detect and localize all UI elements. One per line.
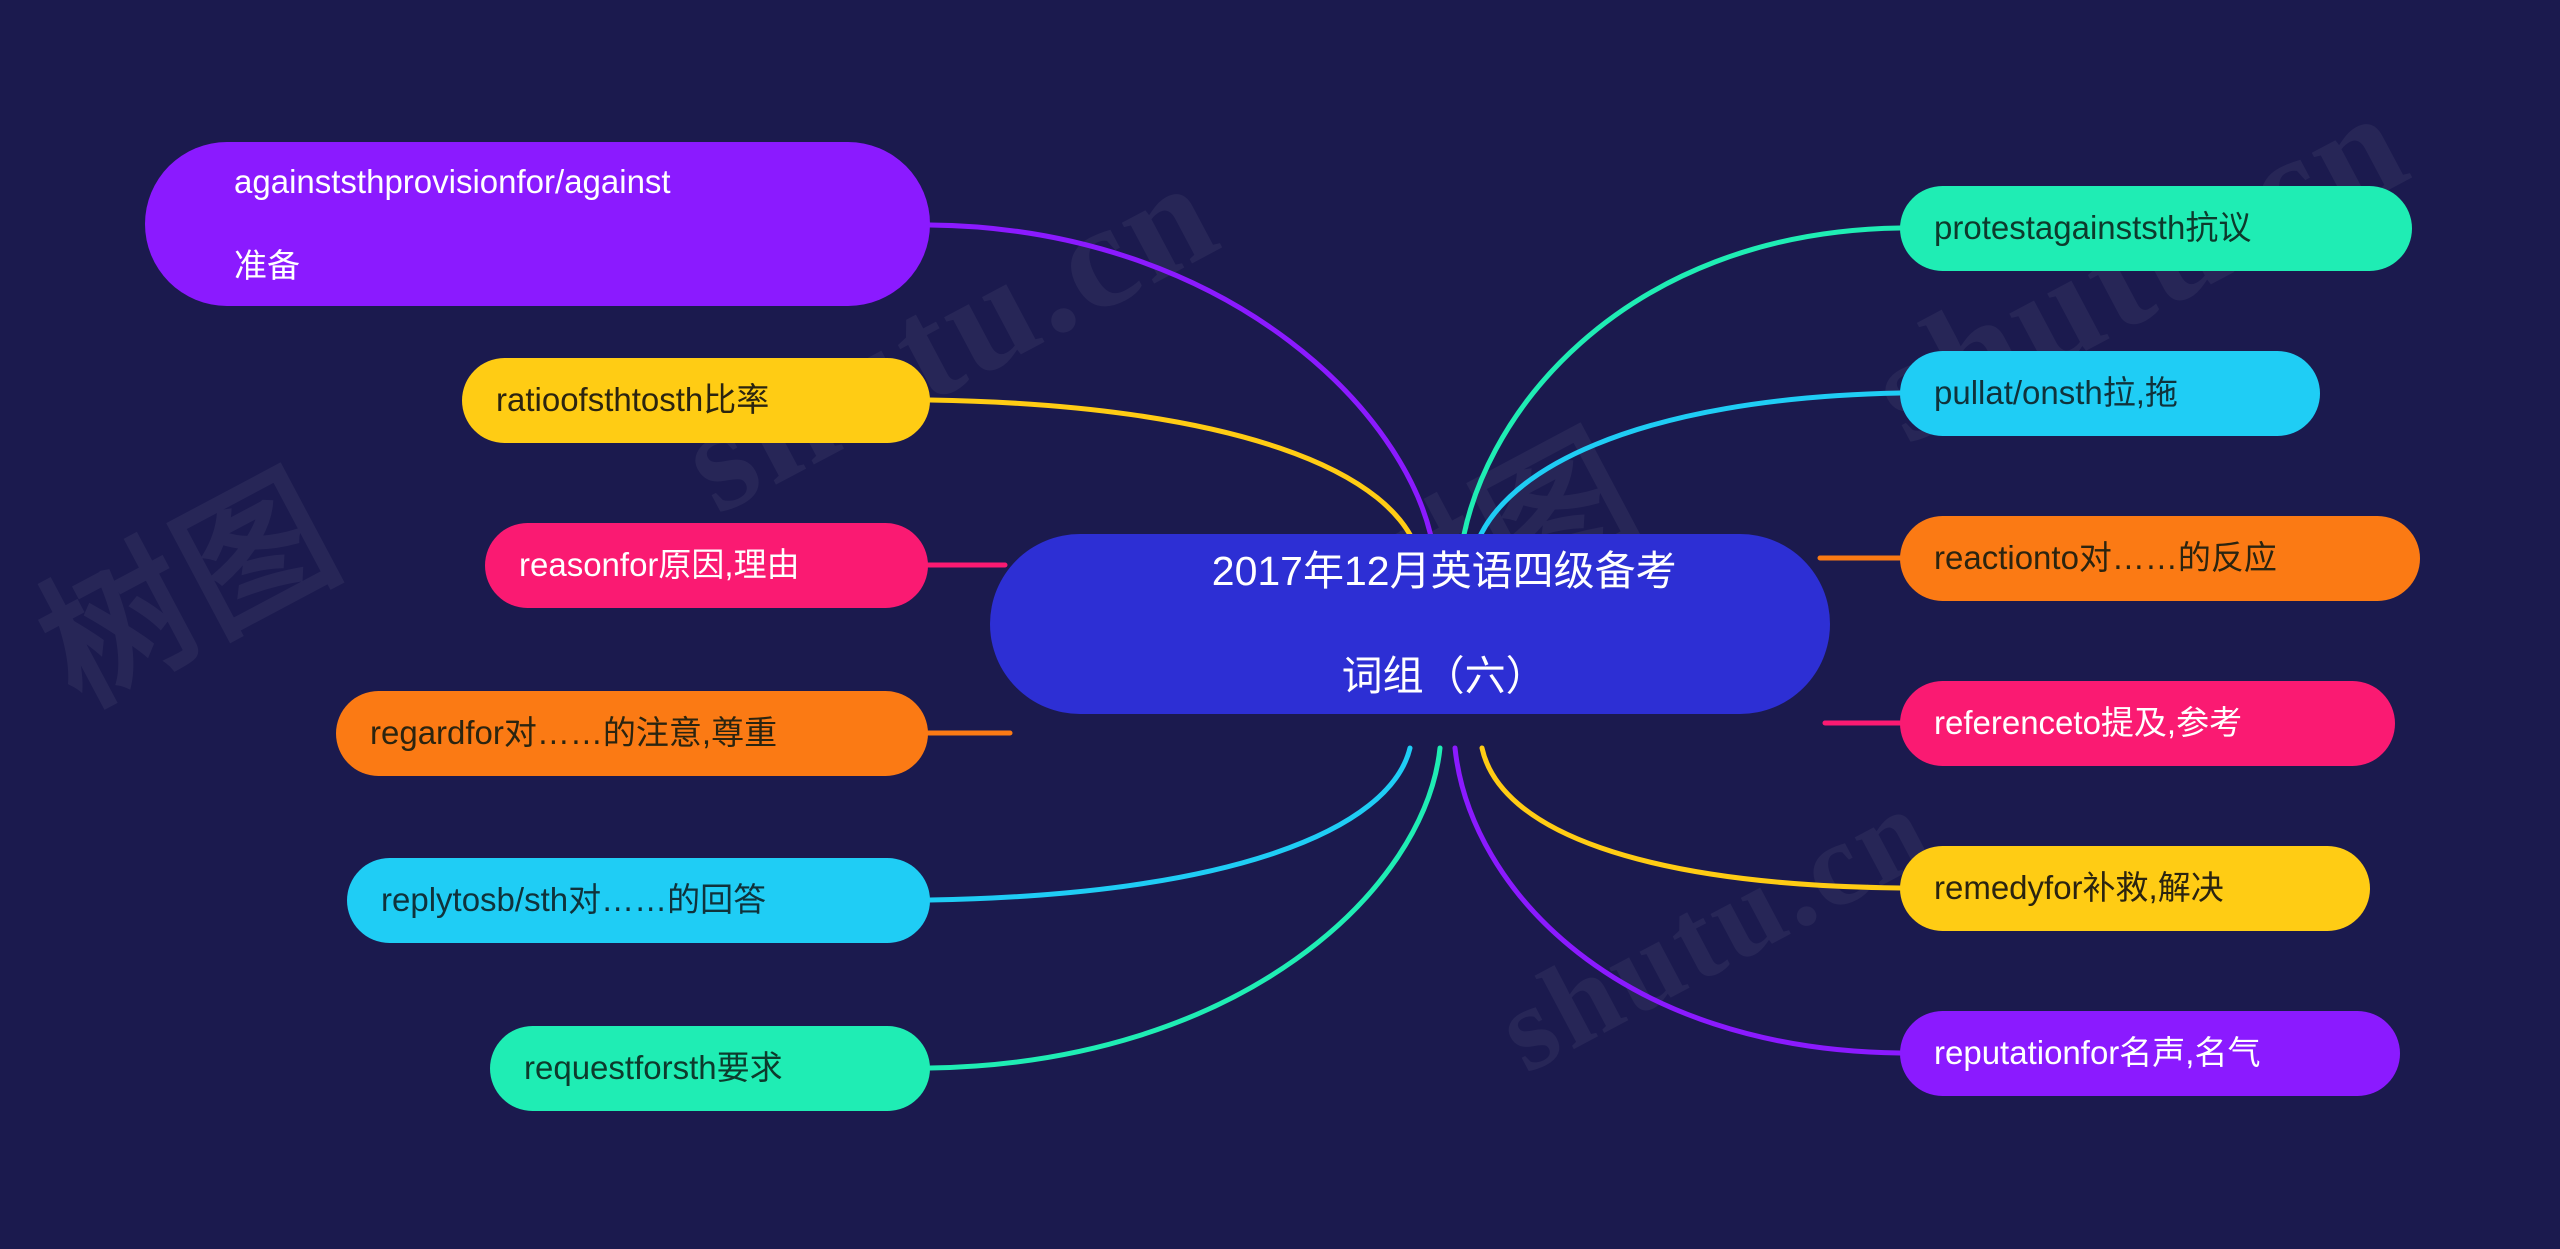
branch-node-reactionto[interactable]: reactionto对……的反应 <box>1900 516 2420 601</box>
branch-label-requestforsth: requestforsth要求 <box>524 1047 783 1089</box>
branch-label-regardfor: regardfor对……的注意,尊重 <box>370 712 777 754</box>
connector-replytosbsth <box>930 748 1410 900</box>
branch-node-reasonfor[interactable]: reasonfor原因,理由 <box>485 523 928 608</box>
watermark-5: shutu.cn <box>1475 758 1954 1100</box>
branch-label-protestagainststh: protestagainststh抗议 <box>1934 207 2251 249</box>
center-node-line-1: 2017年12月英语四级备考 <box>1212 548 1677 594</box>
branch-node-remedyfor[interactable]: remedyfor补救,解决 <box>1900 846 2370 931</box>
branch-label-againststhprovision: againststhprovisionfor/against 准备 <box>179 118 671 329</box>
branch-label-line-2: 准备 <box>234 247 300 284</box>
branch-node-reputationfor[interactable]: reputationfor名声,名气 <box>1900 1011 2400 1096</box>
branch-label-reactionto: reactionto对……的反应 <box>1934 537 2277 579</box>
branch-label-remedyfor: remedyfor补救,解决 <box>1934 867 2224 909</box>
branch-node-pullatonsth[interactable]: pullat/onsth拉,拖 <box>1900 351 2320 436</box>
connector-requestforsth <box>930 748 1440 1068</box>
center-node[interactable]: 2017年12月英语四级备考 词组（六） <box>990 534 1830 714</box>
branch-label-referenceto: referenceto提及,参考 <box>1934 702 2242 744</box>
branch-label-reasonfor: reasonfor原因,理由 <box>519 544 800 586</box>
branch-label-pullatonsth: pullat/onsth拉,拖 <box>1934 372 2178 414</box>
branch-node-regardfor[interactable]: regardfor对……的注意,尊重 <box>336 691 928 776</box>
branch-label-line-1: againststhprovisionfor/against <box>234 163 671 200</box>
center-node-line-2: 词组（六） <box>1342 653 1547 699</box>
watermark-1: 树图 <box>0 410 371 746</box>
branch-node-replytosbsth[interactable]: replytosb/sth对……的回答 <box>347 858 930 943</box>
branch-node-requestforsth[interactable]: requestforsth要求 <box>490 1026 930 1111</box>
branch-node-referenceto[interactable]: referenceto提及,参考 <box>1900 681 2395 766</box>
branch-label-replytosbsth: replytosb/sth对……的回答 <box>381 879 766 921</box>
branch-label-ratioofsthtosth: ratioofsthtosth比率 <box>496 379 769 421</box>
branch-label-reputationfor: reputationfor名声,名气 <box>1934 1032 2260 1074</box>
branch-node-protestagainststh[interactable]: protestagainststh抗议 <box>1900 186 2412 271</box>
center-node-label: 2017年12月英语四级备考 词组（六） <box>1143 493 1676 755</box>
branch-node-againststhprovision[interactable]: againststhprovisionfor/against 准备 <box>145 142 930 306</box>
branch-node-ratioofsthtosth[interactable]: ratioofsthtosth比率 <box>462 358 930 443</box>
mindmap-canvas: 树图 shutu.cn 树图 shutu.cn shutu.cn 2017年12… <box>0 0 2560 1249</box>
